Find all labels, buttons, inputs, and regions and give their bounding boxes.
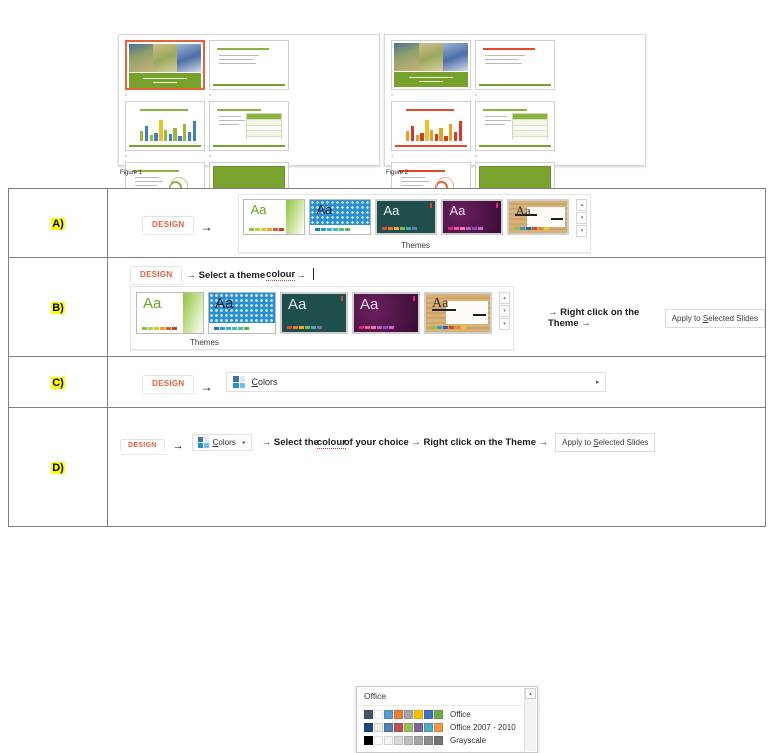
theme-thumb-dots[interactable]: Aa	[309, 199, 371, 235]
theme-thumb-letters: Aa	[250, 203, 266, 216]
color-swatch-strip	[364, 710, 443, 719]
gallery-more-icon[interactable]: ▾	[576, 225, 587, 237]
themes-gallery-row: Aa Aa	[136, 292, 510, 334]
theme-thumb-letters: Aa	[316, 203, 332, 216]
arrow-icon: →	[173, 441, 184, 452]
slide-number: 3	[391, 154, 393, 158]
slide-sorter-pane-1[interactable]: 1 2	[118, 34, 380, 166]
colors-label: Colors	[213, 438, 236, 447]
gallery-more-icon[interactable]: ▾	[499, 318, 510, 330]
theme-thumb-wood-type[interactable]: Aa	[424, 292, 492, 334]
colors-menu-item[interactable]: Colors ▸	[192, 434, 252, 451]
themes-group-label: Themes	[136, 334, 510, 347]
table-row-d: D) DESIGN → Colors ▸ → Select the	[9, 408, 766, 527]
gallery-scroll-up-icon[interactable]: ▴	[576, 199, 587, 211]
instruction-suffix-d: of your choice → Right click on the Them…	[344, 437, 548, 448]
slide-thumbnail[interactable]: 2	[475, 40, 555, 97]
theme-thumb-letters: Aa	[432, 297, 448, 311]
option-label-cell-b: B)	[9, 258, 108, 357]
colors-icon	[198, 437, 209, 448]
theme-thumb-ion-dark[interactable]: Aa	[280, 292, 348, 334]
option-label-c: C)	[51, 377, 65, 389]
theme-thumb-letters: Aa	[360, 297, 378, 312]
apply-to-selected-slides-button[interactable]: Apply to Selected Slides	[555, 433, 655, 452]
right-click-instruction-b: → Right click on the Theme →	[548, 307, 657, 329]
figure-caption: Figure 2	[386, 170, 408, 176]
color-group-header: Office	[357, 687, 537, 706]
option-label-a: A)	[51, 218, 65, 230]
themes-gallery-a[interactable]: Aa Aa Aa	[238, 194, 591, 253]
figures-area: 1 2	[118, 34, 648, 166]
option-label-cell-a: A)	[9, 189, 108, 258]
slide-thumbnail[interactable]: 1	[391, 40, 471, 97]
theme-thumb-ion-dark[interactable]: Aa	[375, 199, 437, 235]
gallery-scroll-down-icon[interactable]: ▾	[499, 305, 510, 317]
submenu-caret-icon: ▸	[243, 439, 246, 446]
slide-thumbnail[interactable]: 3	[125, 101, 205, 158]
color-swatch-strip	[364, 736, 443, 745]
option-label-cell-c: C)	[9, 357, 108, 408]
color-swatch-strip	[364, 723, 443, 732]
gallery-scroll-up-icon[interactable]: ▴	[499, 292, 510, 304]
table-row-c: C) DESIGN → Colors ▸	[9, 357, 766, 408]
colors-label: Colors	[251, 377, 277, 387]
theme-thumb-ion-purple[interactable]: Aa	[441, 199, 503, 235]
theme-thumb-letters: Aa	[288, 297, 306, 312]
slide-number: 1	[391, 93, 393, 97]
colors-menu-item[interactable]: Colors ▸	[226, 372, 606, 392]
arrow-icon: →	[200, 381, 212, 393]
scroll-up-icon[interactable]: ▴	[525, 688, 536, 699]
theme-thumb-facet[interactable]: Aa	[243, 199, 305, 235]
themes-gallery-row: Aa Aa Aa	[243, 199, 587, 237]
option-label-cell-d: D)	[9, 408, 108, 527]
color-scheme-name: Grayscale	[450, 736, 486, 745]
colors-icon	[233, 376, 245, 388]
theme-thumb-facet[interactable]: Aa	[136, 292, 204, 334]
gallery-spinner[interactable]: ▴ ▾ ▾	[499, 292, 510, 330]
apply-accel: S	[703, 314, 708, 323]
submenu-caret-icon: ▸	[596, 378, 600, 386]
color-scheme-row[interactable]: Grayscale	[357, 734, 537, 747]
slide-thumbnail[interactable]: 2	[209, 40, 289, 97]
instruction-suffix-b: →	[296, 270, 306, 281]
option-content-a: DESIGN → Aa	[108, 189, 766, 258]
slide-thumbnail[interactable]: 3	[391, 101, 471, 158]
slide-number: 2	[209, 93, 211, 97]
text-cursor	[313, 268, 314, 280]
apply-accel: S	[593, 438, 598, 447]
option-label-b: B)	[51, 302, 65, 314]
slide-sorter-pane-2[interactable]: 1 2	[384, 34, 646, 166]
design-tab-wrap-a: DESIGN	[142, 214, 194, 232]
slide-number: 4	[475, 154, 477, 158]
slide-number: 4	[209, 154, 211, 158]
arrow-icon: →	[200, 221, 212, 233]
option-content-d: DESIGN → Colors ▸ → Select the colour of…	[108, 408, 766, 527]
slide-thumbnail[interactable]: 4	[209, 101, 289, 158]
design-tab[interactable]: DESIGN	[120, 439, 165, 451]
option-content-b: DESIGN → Select a theme colour →	[108, 258, 766, 357]
design-tab-wrap-c: DESIGN	[142, 373, 194, 391]
gallery-scroll-down-icon[interactable]: ▾	[576, 212, 587, 224]
figure-caption: Figure 1	[120, 170, 142, 176]
slide-thumbnail[interactable]: 4	[475, 101, 555, 158]
theme-thumb-letters: Aa	[143, 296, 161, 311]
theme-colors-dropdown[interactable]: Office Office Office 2007 -	[356, 686, 538, 753]
design-tab[interactable]: DESIGN	[130, 266, 182, 282]
themes-gallery-b[interactable]: Aa Aa	[130, 286, 514, 350]
figure-2: 1 2	[384, 34, 646, 166]
instruction-keyword-d: colour	[317, 437, 346, 449]
theme-thumb-letters: Aa	[383, 204, 399, 217]
apply-to-selected-slides-button[interactable]: Apply to Selected Slides	[665, 309, 765, 328]
slide-number: 2	[475, 93, 477, 97]
page-root: 1 2	[0, 0, 776, 566]
options-table: A) DESIGN → Aa	[8, 188, 766, 527]
color-scheme-row[interactable]: Office	[357, 708, 537, 721]
table-row-a: A) DESIGN → Aa	[9, 189, 766, 258]
design-tab-wrap-b: DESIGN	[130, 264, 182, 282]
instruction-prefix-b: → Select a theme	[186, 270, 265, 281]
color-scheme-name: Office 2007 - 2010	[450, 723, 516, 732]
theme-thumb-dots[interactable]: Aa	[208, 292, 276, 334]
design-tab-wrap-d: DESIGN	[120, 434, 165, 452]
option-content-c: DESIGN → Colors ▸	[108, 357, 766, 408]
instruction-prefix-d: → Select the	[262, 437, 319, 448]
themes-group-label: Themes	[243, 237, 587, 250]
slide-number: 3	[125, 154, 127, 158]
instruction-keyword-b: colour	[266, 269, 295, 281]
figure-1: 1 2	[118, 34, 380, 166]
slide-number: 1	[125, 93, 127, 97]
theme-thumb-wood-type[interactable]: Aa	[507, 199, 569, 235]
theme-thumb-letters: Aa	[449, 204, 465, 217]
gallery-spinner[interactable]: ▴ ▾ ▾	[576, 199, 587, 237]
dropdown-scrollbar[interactable]: ▴	[524, 688, 536, 751]
theme-thumb-letters: Aa	[215, 296, 233, 311]
color-scheme-name: Office	[450, 710, 471, 719]
color-scheme-row[interactable]: Office 2007 - 2010	[357, 721, 537, 734]
design-tab[interactable]: DESIGN	[142, 216, 194, 232]
design-tab[interactable]: DESIGN	[142, 375, 194, 391]
slide-thumbnail[interactable]: 1	[125, 40, 205, 97]
table-row-b: B) DESIGN → Select a theme colour →	[9, 258, 766, 357]
theme-thumb-letters: Aa	[515, 204, 530, 217]
option-label-d: D)	[51, 462, 65, 474]
theme-thumb-ion-purple[interactable]: Aa	[352, 292, 420, 334]
